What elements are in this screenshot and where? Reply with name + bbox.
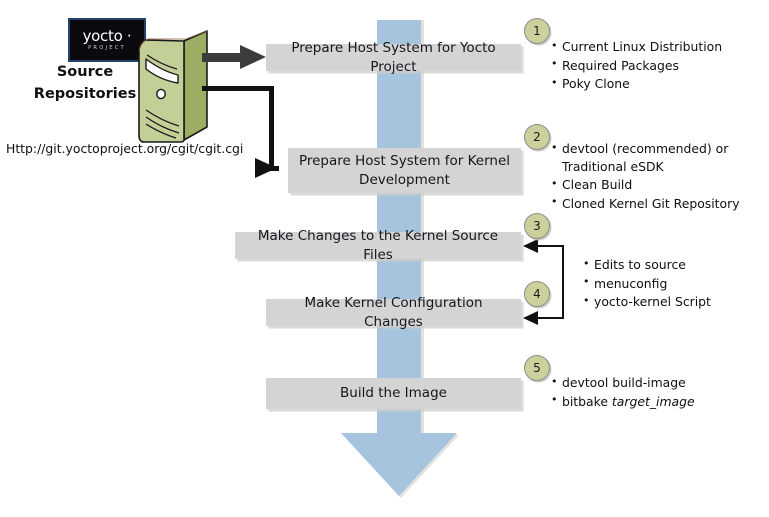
- arrow-head-icon-server-to-step1: [240, 45, 266, 69]
- logo-subtext: PROJECT: [88, 46, 126, 51]
- source-repositories-label: Source Repositories: [30, 62, 140, 106]
- process-box-step-3[interactable]: Make Changes to the Kernel Source Files: [235, 232, 521, 259]
- step-number-badge-5: 5: [524, 355, 550, 381]
- connector-server-to-step2-segment-h1: [202, 86, 274, 91]
- list-item: devtool build-image: [551, 374, 761, 392]
- bullet-list-step-5: devtool build-image bitbake target_image: [551, 374, 761, 411]
- list-item: Cloned Kernel Git Repository: [551, 195, 761, 213]
- step-number-badge-3: 3: [524, 213, 550, 239]
- list-item: Current Linux Distribution: [551, 38, 761, 56]
- list-item: Clean Build: [551, 176, 761, 194]
- arrow-head-icon-server-to-step2: [255, 158, 277, 178]
- list-item: Edits to source: [583, 256, 763, 274]
- list-item: menuconfig: [583, 275, 763, 293]
- list-item: devtool (recommended) or Traditional eSD…: [551, 140, 761, 175]
- source-label-line-1: Source: [30, 62, 140, 84]
- bullet-list-step-1: Current Linux Distribution Required Pack…: [551, 38, 761, 94]
- logo-wordmark: yocto ·: [83, 29, 132, 44]
- arrow-head-icon-to-step4: [523, 311, 538, 325]
- step-number-badge-2: 2: [524, 124, 550, 150]
- list-item: Poky Clone: [551, 75, 761, 93]
- connector-bracket-vertical-steps-3-4: [562, 246, 564, 319]
- diagram-canvas: yocto · PROJECT Source Repositories Http…: [0, 0, 769, 517]
- process-box-step-2[interactable]: Prepare Host System for Kernel Developme…: [288, 148, 521, 193]
- process-box-step-4[interactable]: Make Kernel Configuration Changes: [266, 299, 521, 326]
- source-repository-url[interactable]: Http://git.yoctoproject.org/cgit/cgit.cg…: [6, 141, 243, 156]
- step-number-badge-4: 4: [524, 281, 550, 307]
- list-item: Required Packages: [551, 57, 761, 75]
- bullet-list-step-2: devtool (recommended) or Traditional eSD…: [551, 140, 761, 213]
- bullet-list-steps-3-4: Edits to source menuconfig yocto-kernel …: [583, 256, 763, 312]
- arrow-head-icon-to-step3: [523, 239, 538, 253]
- yocto-project-logo: yocto · PROJECT: [68, 18, 146, 62]
- step-number-badge-1: 1: [524, 18, 550, 44]
- list-item: bitbake target_image: [551, 393, 761, 411]
- list-item: yocto-kernel Script: [583, 293, 763, 311]
- list-item-text: bitbake: [562, 394, 612, 409]
- list-item-emphasis: target_image: [612, 394, 695, 409]
- process-box-step-1[interactable]: Prepare Host System for Yocto Project: [266, 44, 521, 71]
- process-box-step-5[interactable]: Build the Image: [266, 378, 521, 409]
- flow-arrowhead-icon: [341, 433, 457, 496]
- source-label-line-2: Repositories: [30, 84, 140, 106]
- server-tower-icon: [136, 27, 210, 144]
